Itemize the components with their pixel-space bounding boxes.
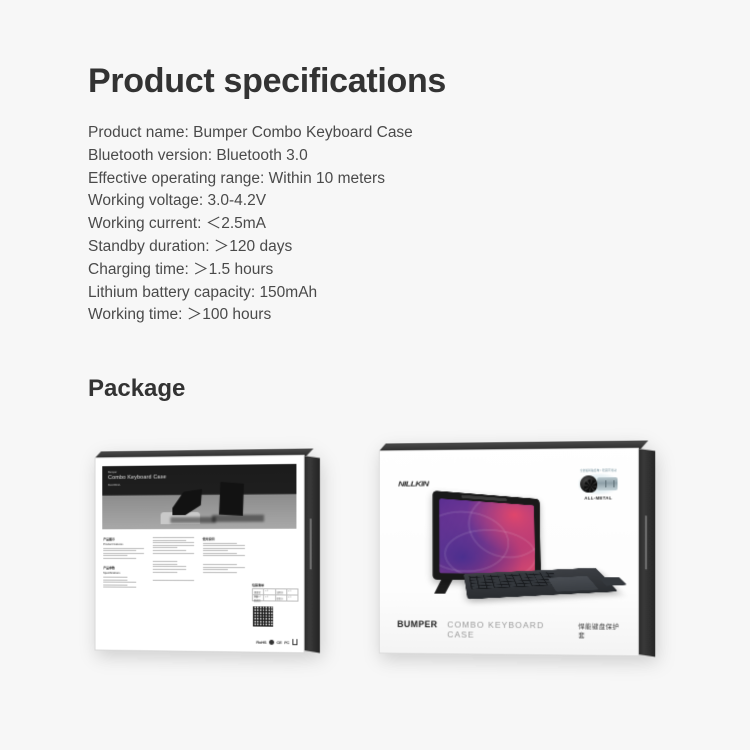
page-title: Product specifications: [88, 62, 446, 101]
text-line: [203, 572, 237, 573]
text-line: [153, 547, 178, 548]
rohs-mark: RoHS: [256, 639, 266, 644]
footer-chinese-label: 悍能键盘保护套: [578, 621, 623, 640]
text-line: [203, 542, 237, 543]
section-heading-package: Package: [88, 375, 185, 403]
text-line: [203, 548, 245, 549]
qr-code: [252, 605, 274, 627]
back-banner-photo: Bumper Combo Keyboard Case BH-KB01A: [102, 464, 296, 529]
photo-shadow-left: [170, 517, 216, 523]
text-line: [153, 569, 187, 570]
spec-item-voltage: Working voltage: 3.0-4.2V: [88, 190, 558, 213]
table-cell: x 1: [287, 589, 297, 594]
weee-bin-icon: [292, 639, 298, 645]
banner-model: BH-KB01A: [108, 483, 166, 487]
spec-item-battery: Lithium battery capacity: 150mAh: [88, 282, 558, 305]
text-line: [153, 542, 194, 543]
badge-hinge-icon: [580, 476, 597, 493]
table-row: Type-C 数据线 x 1 保修卡 x 1: [253, 595, 298, 600]
table-cell: x 1: [264, 595, 275, 600]
text-line: [153, 561, 178, 562]
footer-combo-label: COMBO KEYBOARD CASE: [447, 619, 568, 640]
banner-title: Combo Keyboard Case: [108, 474, 166, 482]
table-cell: 键盘保护套: [253, 589, 264, 594]
box-front-panel: NILLKIN 全金属转轴结构 / 稳固不晃动 ALL-METAL: [379, 448, 639, 657]
badge-fan-icon: [584, 480, 597, 493]
back-column-3: 使用说明: [203, 537, 247, 646]
table-cell: x 1: [264, 589, 275, 594]
contents-heading: 包装清单: [252, 583, 296, 587]
text-line: [153, 566, 187, 567]
keyboard-base: [464, 568, 619, 600]
text-line: [203, 545, 245, 546]
contents-table: 键盘保护套 x 1 说明书 x 1 Type-C 数据线 x 1 保修卡 x 1: [252, 588, 299, 601]
recycle-icon: [269, 639, 274, 644]
tablet-in-case: [433, 491, 541, 581]
tablet-screen: [439, 499, 535, 574]
specification-list: Product name: Bumper Combo Keyboard Case…: [88, 122, 558, 327]
box-back-spine: [304, 456, 320, 653]
text-line: [153, 553, 194, 554]
table-cell: Type-C 数据线: [253, 595, 264, 600]
all-metal-badge: 全金属转轴结构 / 稳固不晃动 ALL-METAL: [575, 469, 622, 501]
spec-item-product-name: Product name: Bumper Combo Keyboard Case: [88, 122, 558, 145]
text-line: [153, 545, 194, 546]
text-line: [103, 555, 128, 556]
text-line: [153, 571, 178, 572]
table-cell: x 1: [287, 595, 297, 600]
spine-highlight: [310, 519, 312, 570]
retail-box-front: NILLKIN 全金属转轴结构 / 稳固不晃动 ALL-METAL: [375, 438, 663, 663]
back-column-1: 产品图示 Product features 产品参数 Specification…: [103, 537, 145, 644]
badge-graphic: [578, 474, 618, 495]
package-contents-block: 包装清单 键盘保护套 x 1 说明书 x 1 Type-C 数据线 x 1 保修…: [252, 583, 296, 628]
footer-bumper-label: BUMPER: [397, 619, 437, 629]
text-line: [203, 553, 237, 554]
front-footer: BUMPER COMBO KEYBOARD CASE 悍能键盘保护套: [397, 619, 623, 641]
column-1-heading: 产品图示: [103, 537, 145, 541]
text-line: [203, 555, 245, 556]
spec-item-bluetooth: Bluetooth version: Bluetooth 3.0: [88, 145, 558, 168]
package-images: Bumper Combo Keyboard Case BH-KB01A 产品图示…: [0, 430, 750, 680]
spec-item-working-time: Working time: ＞100 hours: [88, 304, 558, 327]
trackpad: [548, 576, 599, 592]
badge-top-text: 全金属转轴结构 / 稳固不晃动: [575, 469, 622, 473]
text-line: [153, 537, 194, 538]
text-line: [103, 587, 136, 588]
photo-shadow-right: [212, 515, 264, 522]
back-column-2: [153, 537, 196, 645]
spec-item-current: Working current: ＜2.5mA: [88, 213, 558, 236]
spec-item-charging-time: Charging time: ＞1.5 hours: [88, 259, 558, 282]
ce-mark: CE: [277, 639, 282, 644]
table-cell: 说明书: [276, 589, 287, 594]
text-line: [153, 550, 187, 551]
column-1-subheading-2: Specifications: [103, 572, 145, 575]
text-line: [103, 548, 144, 549]
spec-item-standby: Standby duration: ＞120 days: [88, 236, 558, 259]
nillkin-logo: NILLKIN: [398, 480, 428, 488]
spec-item-range: Effective operating range: Within 10 met…: [88, 168, 558, 191]
product-photo-case-closed: [218, 482, 244, 516]
text-line: [203, 550, 228, 551]
text-line: [103, 553, 144, 554]
text-line: [103, 558, 136, 559]
text-line: [103, 579, 128, 580]
text-line: [103, 550, 136, 551]
banner-eyebrow: Bumper: [108, 470, 166, 474]
text-line: [103, 584, 128, 585]
box-back-panel: Bumper Combo Keyboard Case BH-KB01A 产品图示…: [95, 455, 305, 654]
product-render: [421, 498, 602, 615]
badge-metal-plate-icon: [597, 478, 617, 491]
text-line: [203, 564, 237, 565]
text-line: [203, 567, 245, 568]
text-line: [103, 577, 128, 578]
text-line: [153, 564, 178, 565]
text-line: [103, 582, 136, 583]
column-3-heading: 使用说明: [203, 537, 247, 541]
text-line: [153, 540, 187, 541]
column-1-subheading: Product features: [103, 543, 145, 546]
text-line: [203, 569, 228, 570]
table-cell: 保修卡: [276, 595, 287, 600]
fcc-mark: FC: [284, 639, 289, 644]
keyboard-flap: [599, 577, 627, 586]
column-1-heading-2: 产品参数: [103, 566, 145, 570]
keyboard-keys: [469, 572, 562, 589]
box-front-spine: [638, 449, 655, 657]
certification-marks: RoHS CE FC: [256, 639, 297, 646]
text-line: [153, 580, 194, 581]
banner-text-block: Bumper Combo Keyboard Case BH-KB01A: [108, 470, 166, 487]
retail-box-back: Bumper Combo Keyboard Case BH-KB01A 产品图示…: [91, 446, 324, 657]
spine-highlight: [645, 515, 647, 569]
